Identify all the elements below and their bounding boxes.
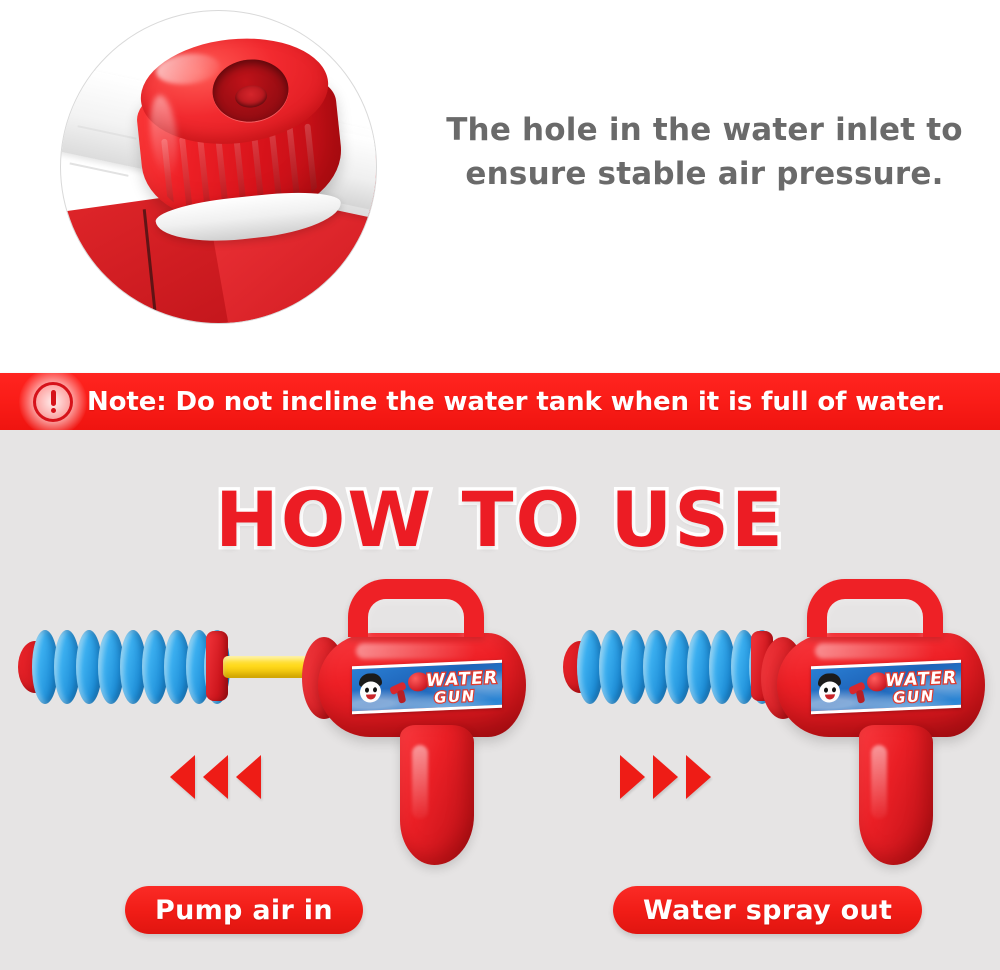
chevron-left-icon [170,755,195,799]
gun-carry-handle [807,579,943,637]
water-gun-sticker: WATER GUN [811,660,961,715]
inlet-hole-vent [234,84,268,109]
inlet-feature-section: The hole in the water inlet to ensure st… [0,0,1000,373]
blue-bellows-barrel [577,630,767,704]
gun-pistol-grip [400,725,474,865]
gun-pistol-grip [859,725,933,865]
water-gun-compressed: WATER GUN [555,615,995,865]
water-gun-extended: WATER GUN [10,615,510,865]
cap-highlight [155,51,222,88]
inlet-caption-line-2: ensure stable air pressure. [432,152,977,196]
grip-highlight [412,745,428,819]
grip-highlight [871,745,887,819]
inlet-caption: The hole in the water inlet to ensure st… [432,108,977,196]
icon-exclamation-bar [51,390,56,406]
gun-carry-handle [348,579,484,637]
caption-water-spray-out-label: Water spray out [643,895,892,926]
chevron-left-icon [203,755,228,799]
gun-body-highlight [356,643,476,659]
gun-body: WATER GUN [318,633,526,737]
inlet-hole [209,56,291,126]
sticker-character-face [816,673,843,707]
caption-pump-air-in: Pump air in [125,886,363,934]
chevron-right-icon [686,755,711,799]
sticker-word-gun: GUN [433,687,477,707]
arrow-row-right [620,755,719,799]
note-banner: Note: Do not incline the water tank when… [0,373,1000,430]
how-to-use-title: HOW TO USE [0,475,1000,564]
photo-content [61,11,376,323]
gun-body: WATER GUN [777,633,985,737]
how-to-use-section: HOW TO USE [0,430,1000,970]
chevron-right-icon [653,755,678,799]
water-inlet-photo [60,10,377,324]
chevron-right-icon [620,755,645,799]
water-gun-sticker: WATER GUN [352,660,502,715]
inlet-caption-line-1: The hole in the water inlet to [432,108,977,152]
note-text: Note: Do not incline the water tank when… [87,387,945,417]
blue-bellows-barrel [32,630,232,704]
red-inlet-cap [130,29,349,239]
sticker-character-face [357,673,384,707]
chevron-left-icon [236,755,261,799]
gun-body-highlight [815,643,935,659]
icon-exclamation-dot [51,408,56,413]
arrow-row-left [170,755,269,799]
infographic-page: The hole in the water inlet to ensure st… [0,0,1000,970]
sticker-word-gun: GUN [892,687,936,707]
caption-pump-air-in-label: Pump air in [155,895,333,926]
caption-water-spray-out: Water spray out [613,886,922,934]
exclamation-circle-icon [33,382,73,422]
